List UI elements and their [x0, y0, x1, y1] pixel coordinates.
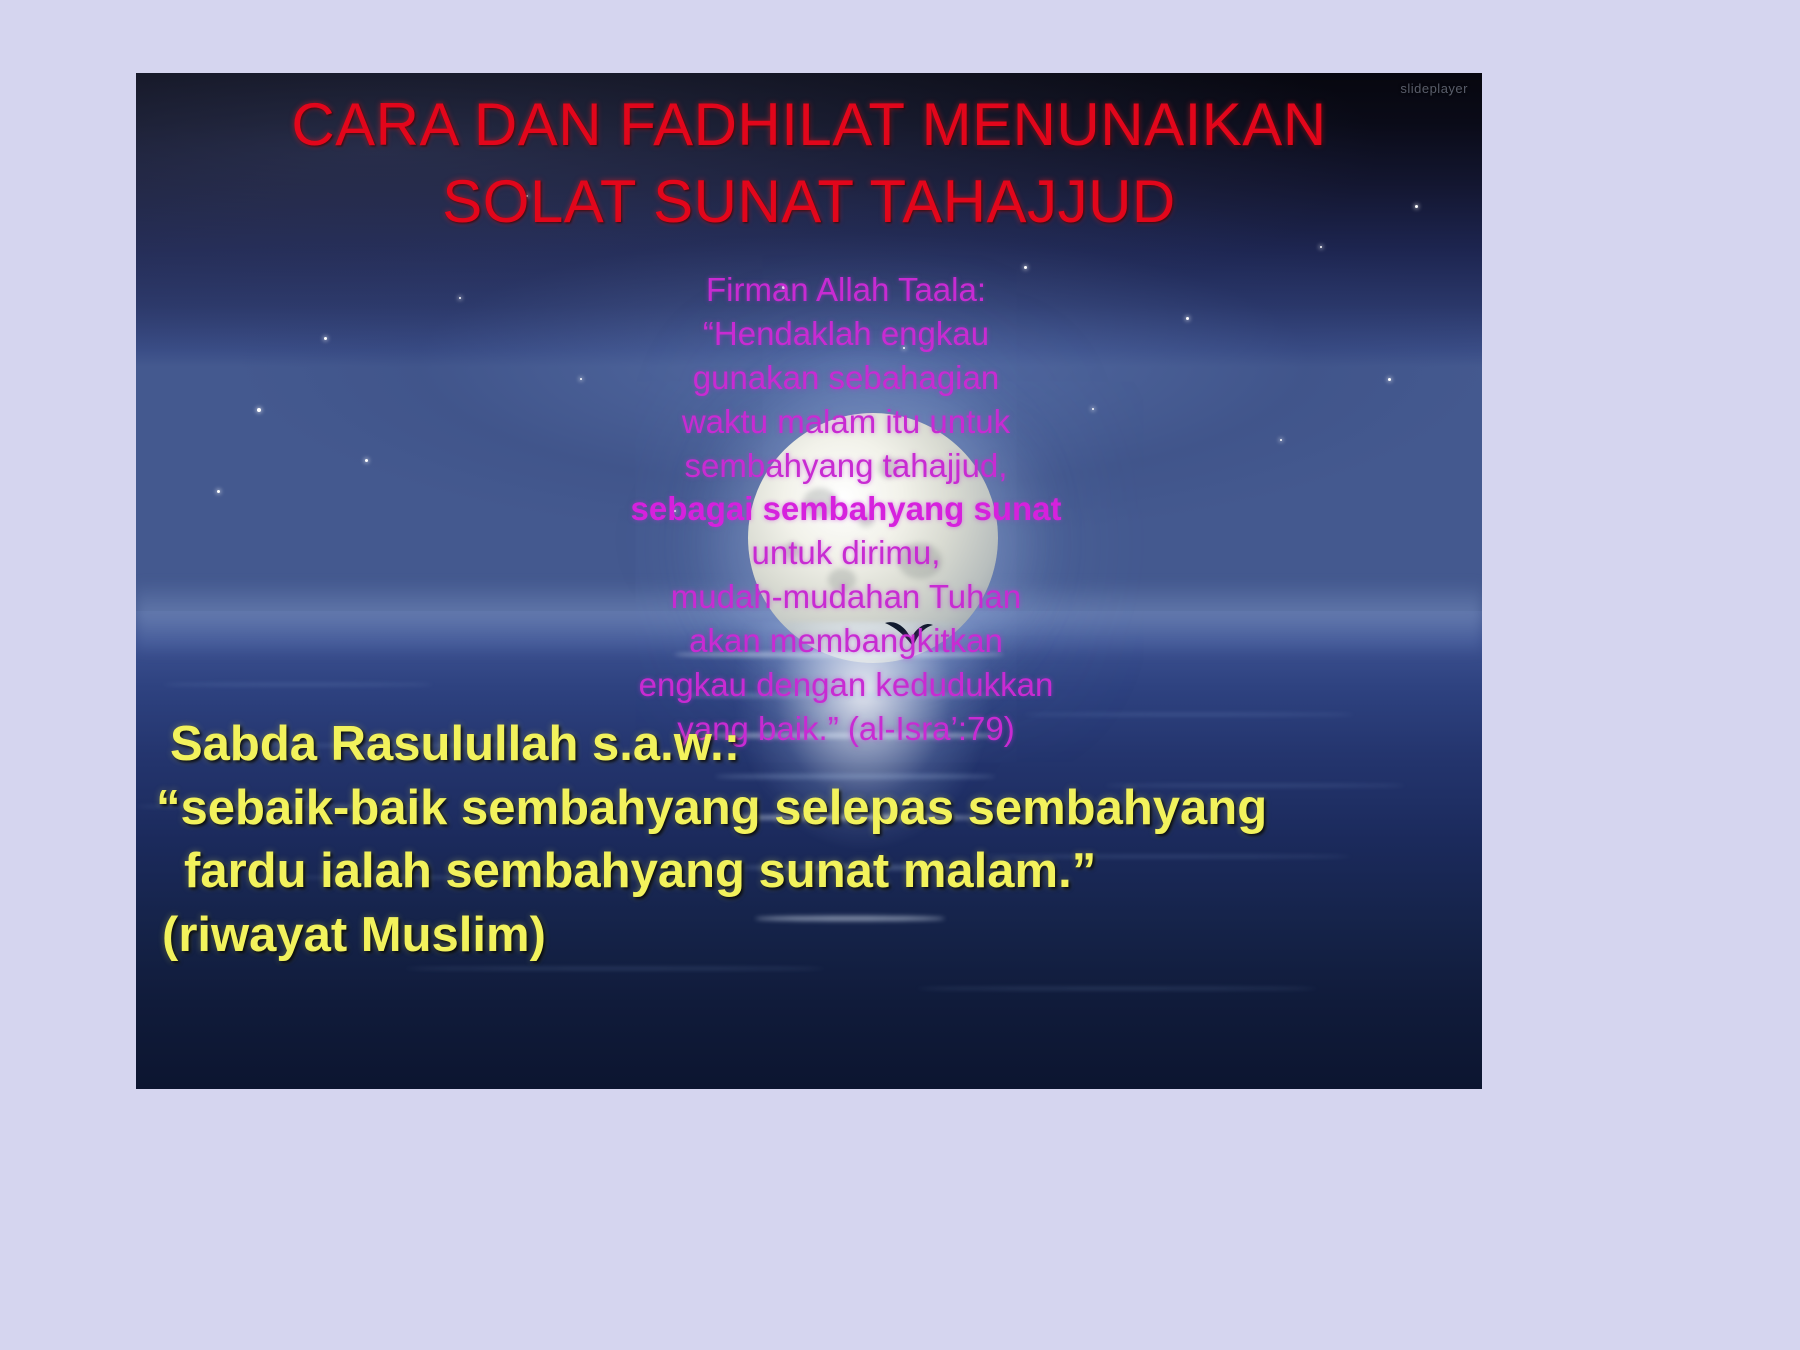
- quran-line-5: sembahyang tahajjud,: [536, 444, 1156, 488]
- star-icon: [459, 297, 461, 299]
- quran-line-3: gunakan sebahagian: [536, 356, 1156, 400]
- title-line-2: SOLAT SUNAT TAHAJJUD: [136, 164, 1482, 241]
- slide-title: CARA DAN FADHILAT MENUNAIKAN SOLAT SUNAT…: [136, 87, 1482, 241]
- title-line-1: CARA DAN FADHILAT MENUNAIKAN: [136, 87, 1482, 164]
- hadith-line-4: (riwayat Muslim): [152, 904, 1472, 968]
- quran-line-9: akan membangkitkan: [536, 619, 1156, 663]
- star-icon: [1186, 317, 1189, 320]
- star-icon: [217, 490, 220, 493]
- hadith-quote-block: Sabda Rasulullah s.a.w.: “sebaik-baik se…: [152, 713, 1472, 968]
- quran-line-8: mudah-mudahan Tuhan: [536, 575, 1156, 619]
- wave-streak: [163, 683, 433, 686]
- quran-line-6: sebagai sembahyang sunat: [536, 487, 1156, 531]
- hadith-line-3: fardu ialah sembahyang sunat malam.”: [152, 840, 1472, 904]
- quran-line-1: Firman Allah Taala:: [536, 268, 1156, 312]
- hadith-line-2: “sebaik-baik sembahyang selepas sembahya…: [152, 777, 1472, 841]
- quran-line-7: untuk dirimu,: [536, 531, 1156, 575]
- presentation-slide: slideplayer CARA DAN FADHILAT MENUNAIKAN…: [136, 73, 1482, 1089]
- quran-line-2: “Hendaklah engkau: [536, 312, 1156, 356]
- star-icon: [365, 459, 368, 462]
- hadith-line-1: Sabda Rasulullah s.a.w.:: [152, 713, 1472, 777]
- quran-line-10: engkau dengan kedudukkan: [536, 663, 1156, 707]
- star-icon: [1280, 439, 1282, 441]
- quran-quote-block: Firman Allah Taala: “Hendaklah engkau gu…: [536, 268, 1156, 751]
- quran-line-4: waktu malam itu untuk: [536, 400, 1156, 444]
- star-icon: [1388, 378, 1391, 381]
